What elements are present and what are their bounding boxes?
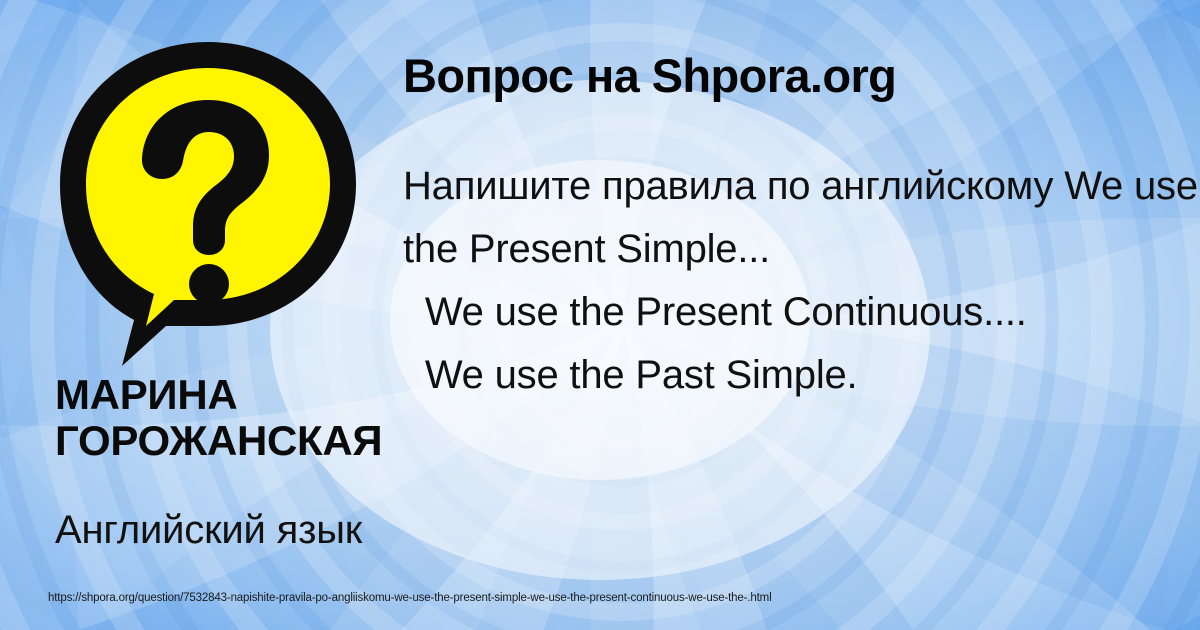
question-text: Напишите правила по английскому We use t… [403,155,1200,407]
subject-label: Английский язык [55,508,362,553]
page-title: Вопрос на Shpora.org [403,48,896,103]
author-first-name: МАРИНА [55,372,615,417]
author-last-name: ГОРОЖАНСКАЯ [55,418,755,463]
source-url[interactable]: https://shpora.org/question/7532843-napi… [48,592,772,604]
question-speech-bubble-icon [48,28,368,368]
share-card: Вопрос на Shpora.org Напишите правила по… [0,0,1200,630]
